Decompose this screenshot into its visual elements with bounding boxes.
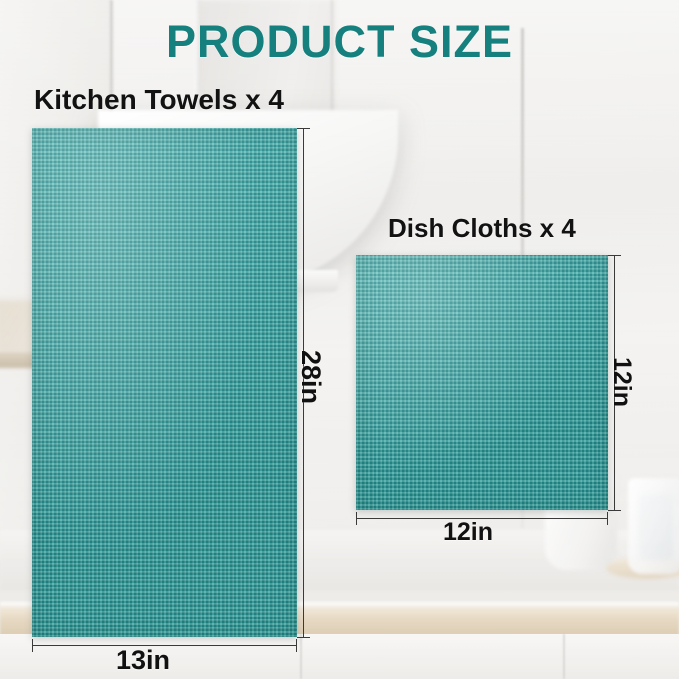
towel-height-cap-top xyxy=(297,128,310,129)
dish-cloth-swatch xyxy=(356,255,608,510)
cloth-height-label: 12in xyxy=(607,357,636,407)
towel-width-label: 13in xyxy=(116,645,170,676)
product-size-infographic: PRODUCT SIZE Kitchen Towels x 4 28in 13i… xyxy=(0,0,679,679)
towel-height-cap-bottom xyxy=(297,637,310,638)
cloth-width-label: 12in xyxy=(443,518,493,547)
kitchen-towels-label: Kitchen Towels x 4 xyxy=(34,84,284,116)
dish-cloths-label: Dish Cloths x 4 xyxy=(388,213,576,244)
kitchen-towel-swatch xyxy=(32,128,297,637)
cloth-width-cap-right xyxy=(607,512,608,525)
cloth-width-cap-left xyxy=(356,512,357,525)
towel-height-label: 28in xyxy=(295,350,326,404)
towel-width-cap-left xyxy=(32,639,33,652)
cloth-height-cap-top xyxy=(608,255,621,256)
page-title: PRODUCT SIZE xyxy=(0,16,679,68)
cloth-height-cap-bottom xyxy=(608,510,621,511)
towel-width-cap-right xyxy=(296,639,297,652)
